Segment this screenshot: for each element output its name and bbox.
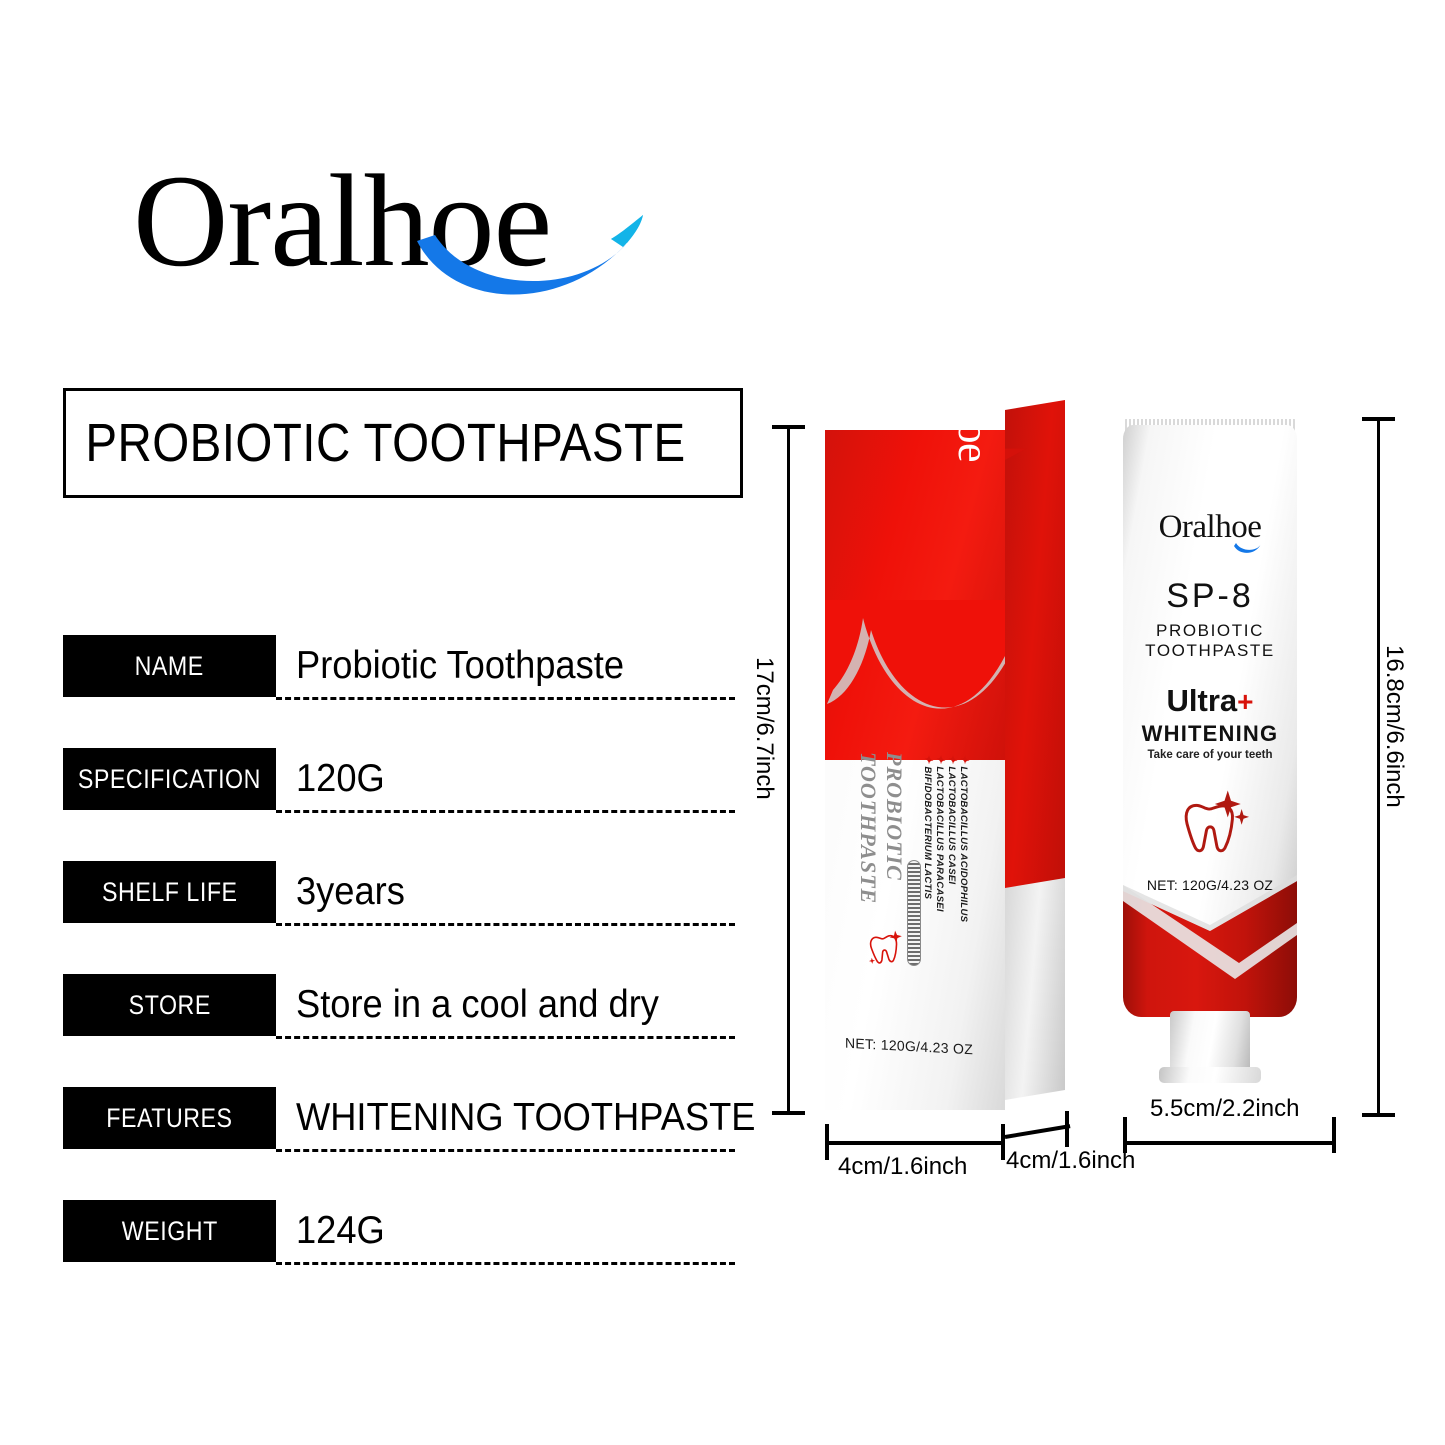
product-images-panel: Oralhoe SP-8 PROBIOTIC TOOTHPASTE ✦ BIFI…: [760, 395, 1445, 1205]
dim-box-depth-label: 4cm/1.6inch: [1006, 1147, 1135, 1175]
tube-subtitle: PROBIOTIC TOOTHPASTE: [1123, 621, 1297, 661]
spec-row: NAMEProbiotic Toothpaste: [63, 635, 735, 748]
spec-dashed-rule: [276, 923, 735, 926]
spec-value-text: WHITENING TOOTHPASTE: [296, 1085, 755, 1151]
box-subtitle-line1: PROBIOTIC: [881, 752, 907, 881]
spec-row: SHELF LIFE3years: [63, 861, 735, 974]
tube-red-graphic: [1123, 867, 1297, 1017]
dim-tube-height-tick-bottom: [1362, 1113, 1395, 1117]
box-side-white-panel: [1005, 878, 1065, 1100]
product-tube-image: Oralhoe SP-8 PROBIOTIC TOOTHPASTE Ultra+…: [1115, 407, 1305, 1107]
spec-dashed-rule: [276, 1262, 735, 1265]
page-title-box: PROBIOTIC TOOTHPASTE: [63, 388, 743, 498]
dim-box-width-line: [825, 1141, 1005, 1145]
spec-dashed-rule: [276, 810, 735, 813]
box-front-face: Oralhoe SP-8 PROBIOTIC TOOTHPASTE ✦ BIFI…: [825, 430, 1005, 1110]
spec-label-text: FEATURES: [106, 1103, 232, 1134]
tube-feature-main: Ultra+: [1123, 683, 1297, 719]
spec-label-chip: NAME: [63, 635, 276, 697]
box-side-panel: [1005, 400, 1065, 1090]
spec-dashed-rule: [276, 1149, 735, 1152]
spec-label-text: STORE: [128, 990, 210, 1021]
tube-neck: [1170, 1011, 1250, 1073]
dim-tube-height-label: 16.8cm/6.6inch: [1380, 645, 1408, 808]
spec-label-chip: SPECIFICATION: [63, 748, 276, 810]
tube-logo-swoosh-icon: [1233, 541, 1263, 557]
spec-label-chip: SHELF LIFE: [63, 861, 276, 923]
tube-red-section: [1123, 867, 1297, 1017]
box-model-label: SP-8: [825, 582, 835, 722]
dim-box-height-tick-bottom: [772, 1111, 805, 1115]
page-title: PROBIOTIC TOOTHPASTE: [66, 412, 686, 474]
spec-value-text: Probiotic Toothpaste: [296, 633, 624, 699]
box-wave-graphic: [825, 600, 1005, 800]
dim-box-depth-tick-right: [1065, 1111, 1069, 1147]
dim-box-height-label: 17cm/6.7inch: [750, 657, 778, 800]
spec-value-text: 124G: [296, 1198, 385, 1264]
tube-plus-symbol: +: [1237, 686, 1253, 717]
box-tooth-icon: [863, 924, 909, 970]
spec-row: STOREStore in a cool and dry: [63, 974, 735, 1087]
spec-label-chip: FEATURES: [63, 1087, 276, 1149]
dim-box-height-line: [787, 425, 790, 1115]
spec-value-text: 3years: [296, 859, 405, 925]
spec-value-text: Store in a cool and dry: [296, 972, 659, 1038]
spec-row: SPECIFICATION120G: [63, 748, 735, 861]
box-barcode: [907, 860, 921, 966]
spec-row: WEIGHT124G: [63, 1200, 735, 1313]
box-subtitle-line2: TOOTHPASTE: [855, 752, 881, 904]
spec-dashed-rule: [276, 1036, 735, 1039]
tube-tagline: Take care of your teeth: [1123, 749, 1297, 761]
dim-tube-width-tick-left: [1123, 1117, 1127, 1153]
product-box-image: Oralhoe SP-8 PROBIOTIC TOOTHPASTE ✦ BIFI…: [825, 420, 1065, 1110]
tube-brand-logo: Oralhoe: [1123, 509, 1297, 546]
dim-box-width-tick-left: [825, 1124, 829, 1160]
dim-tube-height-tick-top: [1362, 417, 1395, 421]
dim-box-depth-line: [1005, 1124, 1071, 1139]
spec-row: FEATURESWHITENING TOOTHPASTE: [63, 1087, 735, 1200]
dim-box-height-tick-top: [772, 425, 805, 429]
spec-label-text: SPECIFICATION: [78, 764, 261, 795]
tube-tooth-icon: [1176, 785, 1250, 859]
spec-label-text: NAME: [135, 651, 204, 682]
box-strain-item: ✦ LACTOBACILLUS ACIDOPHILUS: [958, 754, 971, 922]
box-brand-logo: Oralhoe: [948, 430, 999, 462]
specification-table: NAMEProbiotic ToothpasteSPECIFICATION120…: [63, 635, 735, 1313]
spec-dashed-rule: [276, 697, 735, 700]
dim-box-width-label: 4cm/1.6inch: [838, 1153, 967, 1181]
tube-model-label: SP-8: [1123, 577, 1297, 616]
tube-feature-sub: WHITENING: [1123, 721, 1297, 747]
spec-label-chip: STORE: [63, 974, 276, 1036]
brand-logo: Oralhoe: [133, 155, 653, 305]
spec-label-chip: WEIGHT: [63, 1200, 276, 1262]
tube-cap-lip: [1159, 1067, 1261, 1083]
spec-value-text: 120G: [296, 746, 385, 812]
box-net-weight: NET: 120G/4.23 OZ: [845, 1035, 973, 1058]
dim-tube-width-tick-right: [1332, 1117, 1336, 1153]
dim-box-width-tick-right: [1001, 1124, 1005, 1160]
spec-label-text: WEIGHT: [122, 1216, 218, 1247]
spec-label-text: SHELF LIFE: [102, 877, 237, 908]
dim-tube-width-label: 5.5cm/2.2inch: [1150, 1095, 1299, 1123]
tube-body: Oralhoe SP-8 PROBIOTIC TOOTHPASTE Ultra+…: [1123, 425, 1297, 1017]
dim-tube-width-line: [1123, 1141, 1336, 1145]
logo-swoosh-icon: [413, 203, 653, 303]
